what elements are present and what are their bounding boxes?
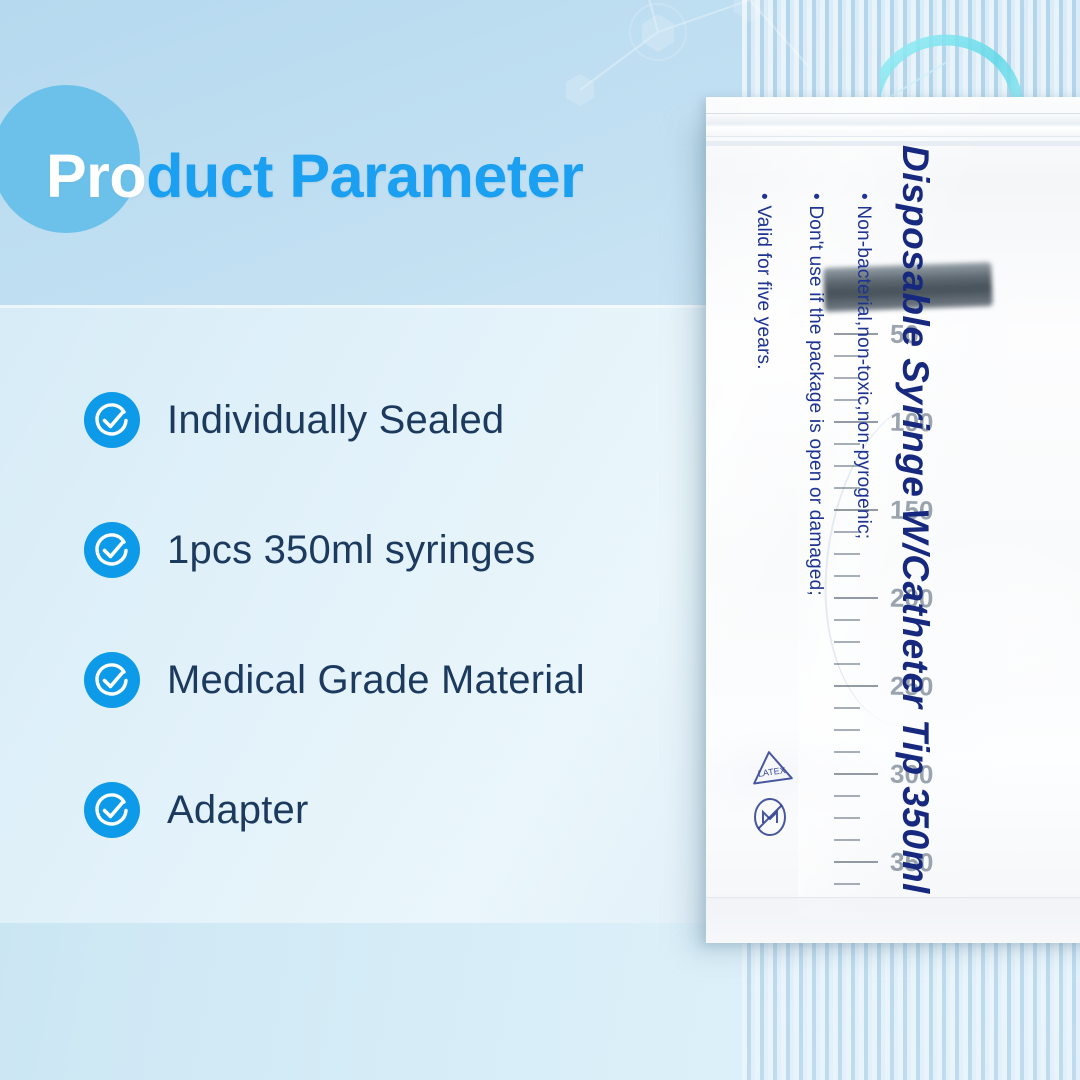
- package-bullet-1: • Non-bacterial,non-toxic,non-pyrogenic;: [852, 193, 874, 539]
- package-ziplock-line: [706, 141, 1080, 146]
- package-bullet-2: • Don't use if the package is open or da…: [804, 193, 826, 596]
- list-item: 1pcs 350ml syringes: [84, 522, 704, 578]
- package-printed-title: Disposable Syringe W/Catheter Tip 350ml: [894, 145, 936, 894]
- latex-triangle-symbol-icon: LATEX: [748, 746, 795, 787]
- package-bullet-3: • Valid for five years.: [752, 193, 774, 370]
- background-bottom-panel: [0, 923, 742, 1080]
- feature-label: Medical Grade Material: [167, 652, 585, 708]
- feature-label: 1pcs 350ml syringes: [167, 522, 535, 578]
- check-circle-icon: [84, 652, 140, 708]
- page-title: Product Parameter: [46, 136, 706, 216]
- feature-list: Individually Sealed 1pcs 350ml syringes: [84, 392, 704, 912]
- feature-label: Individually Sealed: [167, 392, 504, 448]
- single-use-circle-symbol-icon: [752, 797, 788, 837]
- package-bottom-seal: [706, 897, 1080, 943]
- page-title-blue-part: duct Parameter: [146, 142, 583, 210]
- feature-label: Adapter: [167, 782, 309, 838]
- product-parameter-banner: Product Parameter Individually Sealed: [0, 0, 1080, 1080]
- check-circle-icon: [84, 782, 140, 838]
- panel-divider: [0, 305, 722, 308]
- package-ziplock-seal: [706, 113, 1080, 137]
- check-circle-icon: [84, 392, 140, 448]
- list-item: Adapter: [84, 782, 704, 838]
- check-circle-icon: [84, 522, 140, 578]
- list-item: Medical Grade Material: [84, 652, 704, 708]
- page-title-white-part: Pro: [46, 142, 146, 210]
- list-item: Individually Sealed: [84, 392, 704, 448]
- product-package: 50 100 150 200 250 300: [706, 97, 1080, 943]
